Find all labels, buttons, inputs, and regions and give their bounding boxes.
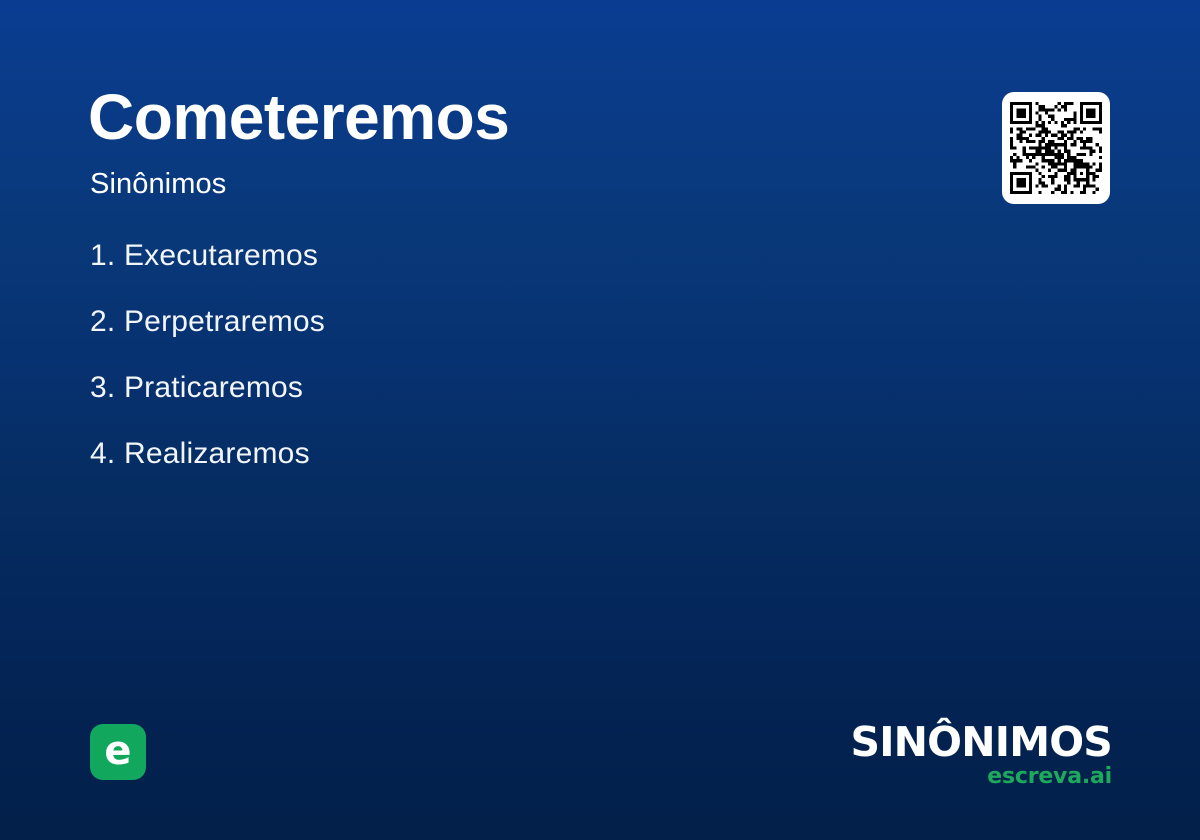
page-title: Cometeremos xyxy=(88,84,509,151)
list-item-index: 3. xyxy=(90,371,115,404)
list-item: 1. Executaremos xyxy=(90,236,790,302)
list-item-index: 4. xyxy=(90,437,115,470)
brand-lockup: SINÔNIMOS escreva.ai xyxy=(850,722,1112,788)
list-item-word: Perpetraremos xyxy=(124,305,325,338)
qr-code[interactable] xyxy=(1002,92,1110,204)
synonym-card: Cometeremos Sinônimos 1. Executaremos 2.… xyxy=(0,0,1200,840)
list-item-word: Praticaremos xyxy=(124,371,303,404)
list-item: 3. Praticaremos xyxy=(90,368,790,434)
list-item: 4. Realizaremos xyxy=(90,434,790,500)
list-item: 2. Perpetraremos xyxy=(90,302,790,368)
escreva-e-logo-icon[interactable]: e xyxy=(90,724,146,780)
qr-code-icon xyxy=(1010,102,1102,194)
list-item-word: Realizaremos xyxy=(124,437,310,470)
brand-name: SINÔNIMOS xyxy=(850,722,1112,763)
page-subtitle: Sinônimos xyxy=(90,167,226,202)
list-item-index: 1. xyxy=(90,239,115,272)
escreva-e-logo-letter: e xyxy=(104,731,131,771)
list-item-word: Executaremos xyxy=(124,239,318,272)
list-item-index: 2. xyxy=(90,305,115,338)
synonym-list: 1. Executaremos 2. Perpetraremos 3. Prat… xyxy=(90,236,790,500)
brand-sub: escreva.ai xyxy=(850,766,1112,788)
